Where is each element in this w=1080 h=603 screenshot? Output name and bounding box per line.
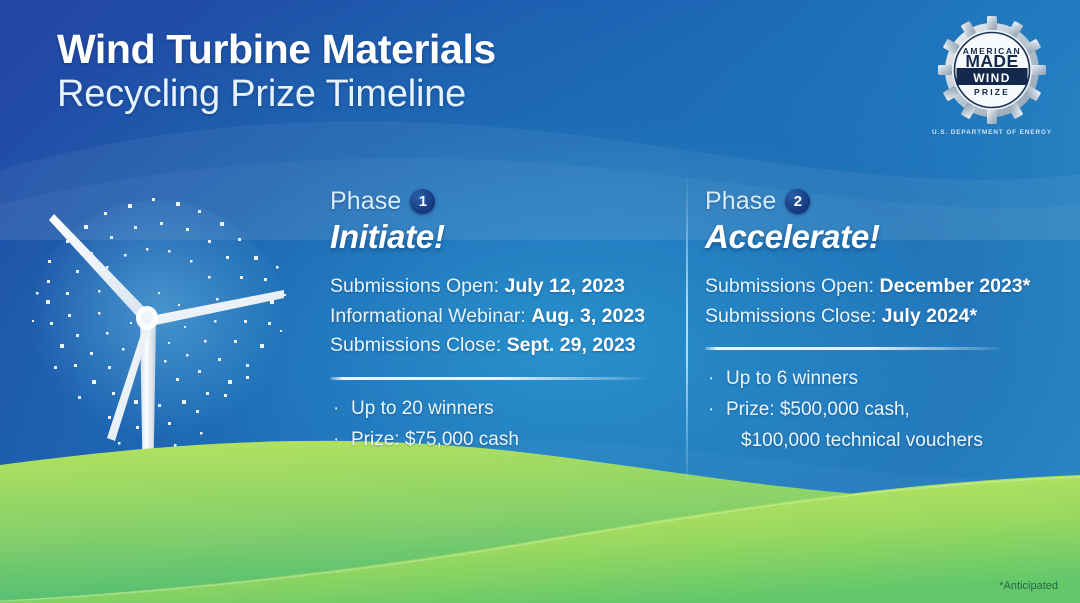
phase-2-heading: Phase 2 bbox=[705, 186, 1035, 216]
phase-1-date-row: Submissions Close: Sept. 29, 2023 bbox=[330, 331, 650, 361]
phase-2-date-0-value: December 2023* bbox=[880, 275, 1031, 297]
page-title: Wind Turbine Materials Recycling Prize T… bbox=[57, 28, 496, 116]
phase-2-date-row: Submissions Open: December 2023* bbox=[705, 272, 1035, 302]
phase-1-column: Phase 1 Initiate! Submissions Open: July… bbox=[330, 186, 650, 455]
list-item: · Prize: $75,000 cash bbox=[330, 425, 650, 456]
logo-main-text: MADE bbox=[965, 51, 1018, 71]
infographic-poster: Wind Turbine Materials Recycling Prize T… bbox=[0, 0, 1080, 603]
phase-1-date-2-value: Sept. 29, 2023 bbox=[507, 334, 636, 356]
phase-2-date-0-label: Submissions Open: bbox=[705, 275, 874, 297]
phase-1-label: Phase bbox=[330, 187, 401, 216]
phase-1-number-badge: 1 bbox=[410, 189, 435, 214]
logo-bottom-text: PRIZE bbox=[974, 87, 1010, 97]
bullet-dot-icon: · bbox=[333, 394, 339, 425]
phase-1-name: Initiate! bbox=[330, 218, 650, 256]
phase-1-bullet-1: Prize: $75,000 cash bbox=[351, 429, 519, 450]
title-line-2: Recycling Prize Timeline bbox=[57, 73, 496, 116]
logo-band-text: WIND bbox=[973, 71, 1011, 85]
phase-1-date-0-value: July 12, 2023 bbox=[505, 275, 625, 297]
phase-1-heading: Phase 1 bbox=[330, 186, 650, 216]
phase-1-date-row: Submissions Open: July 12, 2023 bbox=[330, 272, 650, 302]
phase-2-bullets: · Up to 6 winners · Prize: $500,000 cash… bbox=[705, 364, 1035, 456]
gear-badge-icon: AMERICAN MADE WIND PRIZE bbox=[936, 14, 1048, 126]
doe-agency-label: U.S. DEPARTMENT OF ENERGY bbox=[932, 129, 1052, 136]
phase-1-bullet-0: Up to 20 winners bbox=[351, 398, 494, 419]
phase-columns: Phase 1 Initiate! Submissions Open: July… bbox=[0, 186, 1080, 486]
phase-2-bullet-1: Prize: $500,000 cash, bbox=[726, 399, 910, 420]
phase-1-date-1-label: Informational Webinar: bbox=[330, 305, 526, 327]
footnote-anticipated: *Anticipated bbox=[999, 580, 1058, 592]
phase-1-date-0-label: Submissions Open: bbox=[330, 275, 499, 297]
phase-2-date-1-value: July 2024* bbox=[882, 305, 977, 327]
phase-2-divider bbox=[705, 347, 1005, 350]
phase-2-label: Phase bbox=[705, 187, 776, 216]
phase-2-number-badge: 2 bbox=[785, 189, 810, 214]
list-item: · Up to 6 winners bbox=[705, 364, 1035, 395]
list-item-continuation: $100,000 technical vouchers bbox=[705, 426, 1035, 457]
american-made-wind-prize-logo: AMERICAN MADE WIND PRIZE U.S. DEPARTMENT… bbox=[932, 14, 1052, 136]
bullet-dot-icon: · bbox=[708, 364, 714, 395]
list-item: · Prize: $500,000 cash, bbox=[705, 395, 1035, 426]
phase-1-date-2-label: Submissions Close: bbox=[330, 334, 501, 356]
title-line-1: Wind Turbine Materials bbox=[57, 28, 496, 71]
phase-1-divider bbox=[330, 377, 648, 380]
phase-2-column: Phase 2 Accelerate! Submissions Open: De… bbox=[705, 186, 1035, 457]
phase-2-date-1-label: Submissions Close: bbox=[705, 305, 876, 327]
bullet-dot-icon: · bbox=[708, 395, 714, 426]
phase-1-date-row: Informational Webinar: Aug. 3, 2023 bbox=[330, 302, 650, 332]
list-item: · Up to 20 winners bbox=[330, 394, 650, 425]
bullet-dot-icon: · bbox=[333, 425, 339, 456]
phase-2-bullet-0: Up to 6 winners bbox=[726, 368, 858, 389]
phase-2-bullet-1-continuation: $100,000 technical vouchers bbox=[741, 430, 983, 451]
phase-2-name: Accelerate! bbox=[705, 218, 1035, 256]
phase-2-date-row: Submissions Close: July 2024* bbox=[705, 302, 1035, 332]
phase-1-bullets: · Up to 20 winners · Prize: $75,000 cash bbox=[330, 394, 650, 456]
phase-1-date-1-value: Aug. 3, 2023 bbox=[531, 305, 645, 327]
